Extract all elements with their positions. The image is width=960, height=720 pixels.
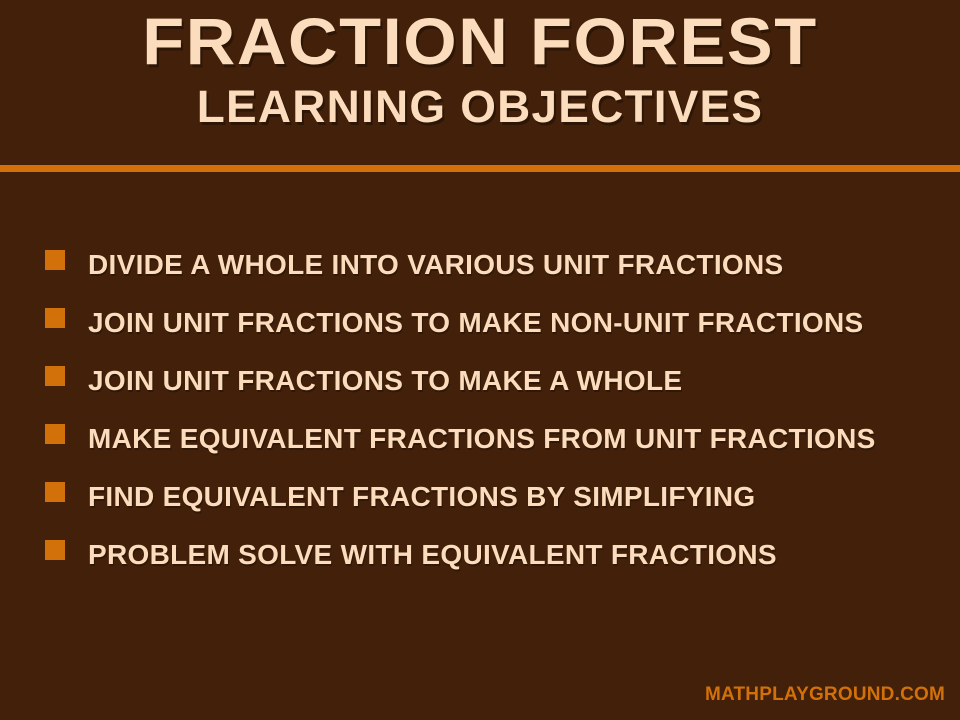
objectives-list: Divide a whole into various unit fractio… [0, 236, 960, 584]
list-item: Join unit fractions to make a whole [0, 352, 960, 410]
list-item: Make equivalent fractions from unit frac… [0, 410, 960, 468]
page-title: Fraction Forest [0, 6, 960, 76]
objective-label: Join unit fractions to make non-unit fra… [88, 294, 864, 352]
slide-root: Fraction Forest Learning Objectives Divi… [0, 0, 960, 720]
objective-label: Make equivalent fractions from unit frac… [88, 410, 876, 468]
square-bullet-icon [45, 482, 65, 502]
square-bullet-icon [45, 250, 65, 270]
objective-label: Join unit fractions to make a whole [88, 352, 682, 410]
square-bullet-icon [45, 308, 65, 328]
objective-label: Problem solve with equivalent fractions [88, 526, 777, 584]
square-bullet-icon [45, 424, 65, 444]
square-bullet-icon [45, 540, 65, 560]
mathplayground-logo[interactable]: mathplayground.com [705, 684, 945, 706]
header-divider-rule [0, 165, 960, 172]
page-subtitle: Learning Objectives [0, 82, 960, 132]
list-item: Divide a whole into various unit fractio… [0, 236, 960, 294]
square-bullet-icon [45, 366, 65, 386]
list-item: Find equivalent fractions by simplifying [0, 468, 960, 526]
list-item: Problem solve with equivalent fractions [0, 526, 960, 584]
objective-label: Find equivalent fractions by simplifying [88, 468, 755, 526]
list-item: Join unit fractions to make non-unit fra… [0, 294, 960, 352]
objective-label: Divide a whole into various unit fractio… [88, 236, 784, 294]
slide-header: Fraction Forest Learning Objectives [0, 0, 960, 165]
